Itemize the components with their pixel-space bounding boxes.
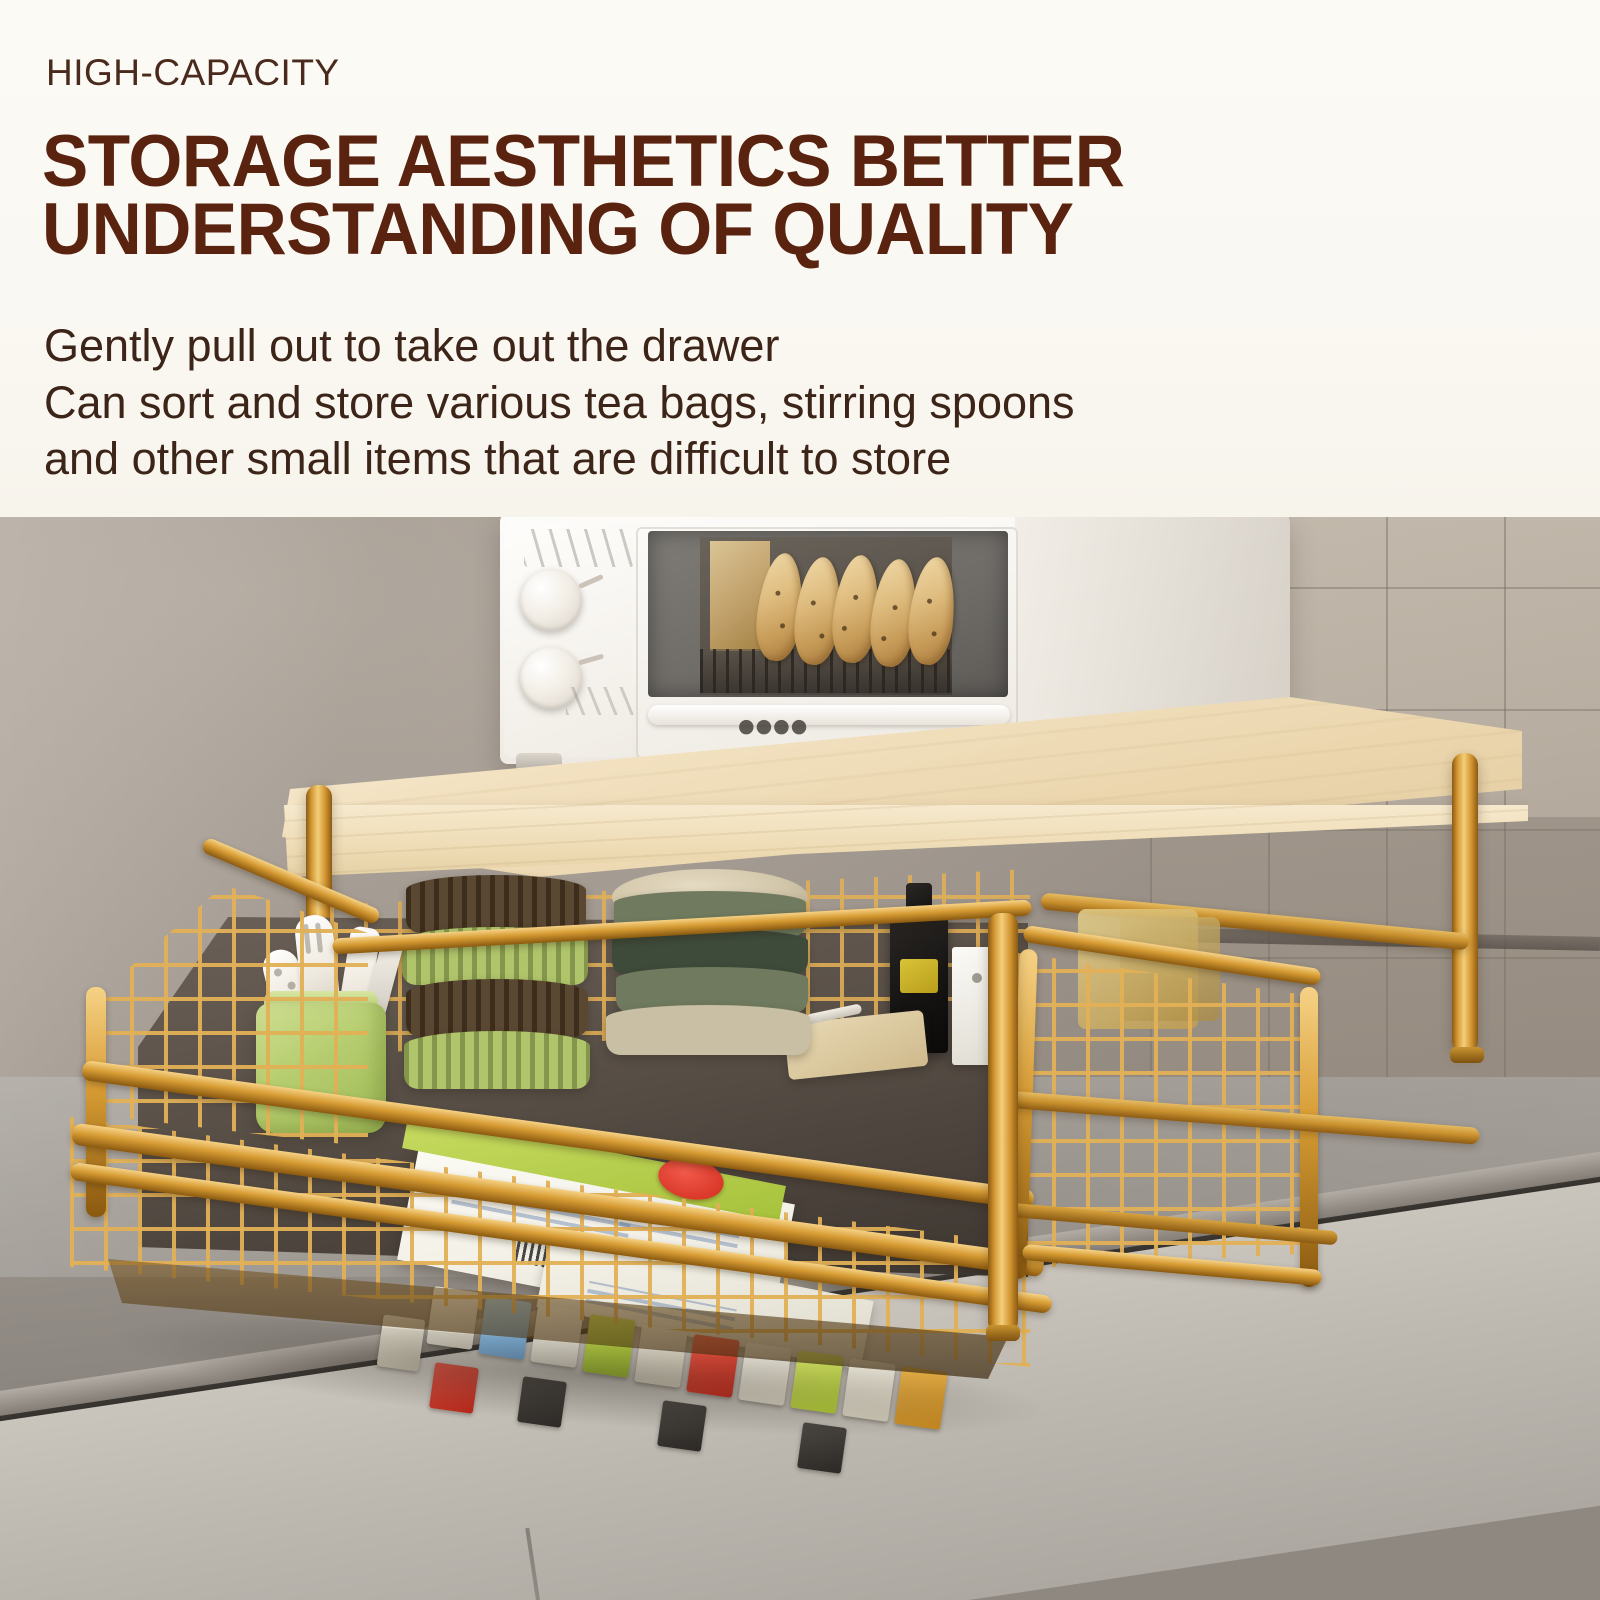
card-hole bbox=[972, 973, 982, 983]
oven-timer-ticks bbox=[566, 687, 636, 715]
body-copy: Gently pull out to take out the drawer C… bbox=[44, 318, 1444, 488]
page-title: STORAGE AESTHETICS BETTER UNDERSTANDING … bbox=[42, 128, 1277, 264]
fluted-bowl bbox=[406, 875, 586, 933]
fluted-bowl bbox=[406, 979, 588, 1037]
rack-foot bbox=[986, 1325, 1020, 1341]
product-photo: ●●●● bbox=[0, 517, 1600, 1600]
oven-temperature-knob[interactable] bbox=[520, 569, 582, 631]
rack-foot bbox=[1450, 1047, 1484, 1063]
body-line-3: and other small items that are difficult… bbox=[44, 431, 1444, 488]
oil-bottle-label bbox=[900, 959, 938, 993]
oven-glass-window bbox=[648, 531, 1008, 697]
headline-line-1: STORAGE AESTHETICS BETTER bbox=[42, 128, 1277, 196]
ceramic-bowl bbox=[606, 1005, 810, 1055]
rack-leg-right-rear bbox=[1452, 753, 1478, 1053]
fluted-bowl bbox=[404, 1031, 590, 1089]
body-line-1: Gently pull out to take out the drawer bbox=[44, 318, 1444, 375]
headline-line-2: UNDERSTANDING OF QUALITY bbox=[42, 196, 1277, 264]
text-panel: HIGH-CAPACITY STORAGE AESTHETICS BETTER … bbox=[0, 0, 1600, 517]
product-marketing-poster: HIGH-CAPACITY STORAGE AESTHETICS BETTER … bbox=[0, 0, 1600, 1600]
oven-brand-logo: ●●●● bbox=[738, 715, 834, 737]
eyebrow-label: HIGH-CAPACITY bbox=[46, 52, 340, 94]
body-line-2: Can sort and store various tea bags, sti… bbox=[44, 375, 1444, 432]
oven-dial-ticks bbox=[524, 529, 634, 567]
rack-leg-front bbox=[988, 913, 1018, 1333]
